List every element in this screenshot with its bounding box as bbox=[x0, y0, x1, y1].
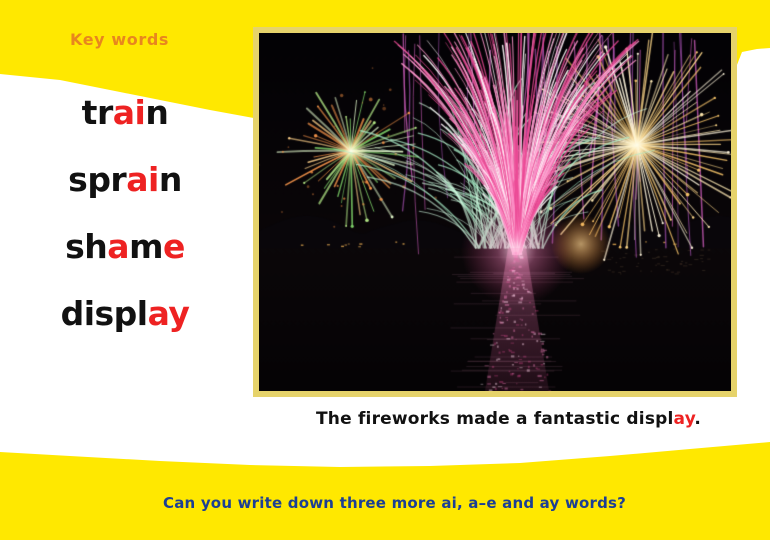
key-word-grapheme: sh bbox=[65, 227, 107, 266]
key-word-grapheme: displ bbox=[61, 294, 148, 333]
key-words-list: trainsprainshamedisplay bbox=[0, 96, 250, 330]
caption-text: The fireworks made a fantastic displ bbox=[316, 409, 674, 429]
key-word-display: display bbox=[61, 297, 190, 330]
key-word-shame: shame bbox=[65, 230, 185, 263]
worksheet-slide: Key words trainsprainshamedisplay The fi… bbox=[0, 0, 770, 540]
bottom-yellow-band bbox=[0, 430, 770, 540]
bottom-band-shape bbox=[0, 442, 770, 540]
fireworks-photo bbox=[253, 27, 737, 397]
activity-question: Can you write down three more ai, a–e an… bbox=[163, 494, 626, 512]
caption-text: . bbox=[694, 409, 701, 429]
key-word-grapheme-highlight: e bbox=[163, 227, 185, 266]
key-word-grapheme: m bbox=[129, 227, 163, 266]
page-title: Key words bbox=[70, 30, 169, 49]
caption-highlight: ay bbox=[674, 409, 695, 429]
key-word-grapheme: n bbox=[145, 93, 168, 132]
key-word-sprain: sprain bbox=[68, 163, 182, 196]
photo-caption: The fireworks made a fantastic display. bbox=[316, 409, 701, 429]
key-word-grapheme: n bbox=[159, 160, 182, 199]
key-word-train: train bbox=[82, 96, 169, 129]
fireworks-image bbox=[259, 33, 731, 391]
key-word-grapheme-highlight: ai bbox=[113, 93, 146, 132]
key-word-grapheme: tr bbox=[82, 93, 113, 132]
key-word-grapheme-highlight: ay bbox=[148, 294, 190, 333]
key-word-grapheme-highlight: ai bbox=[126, 160, 159, 199]
key-word-grapheme: spr bbox=[68, 160, 126, 199]
key-word-grapheme-highlight: a bbox=[107, 227, 129, 266]
